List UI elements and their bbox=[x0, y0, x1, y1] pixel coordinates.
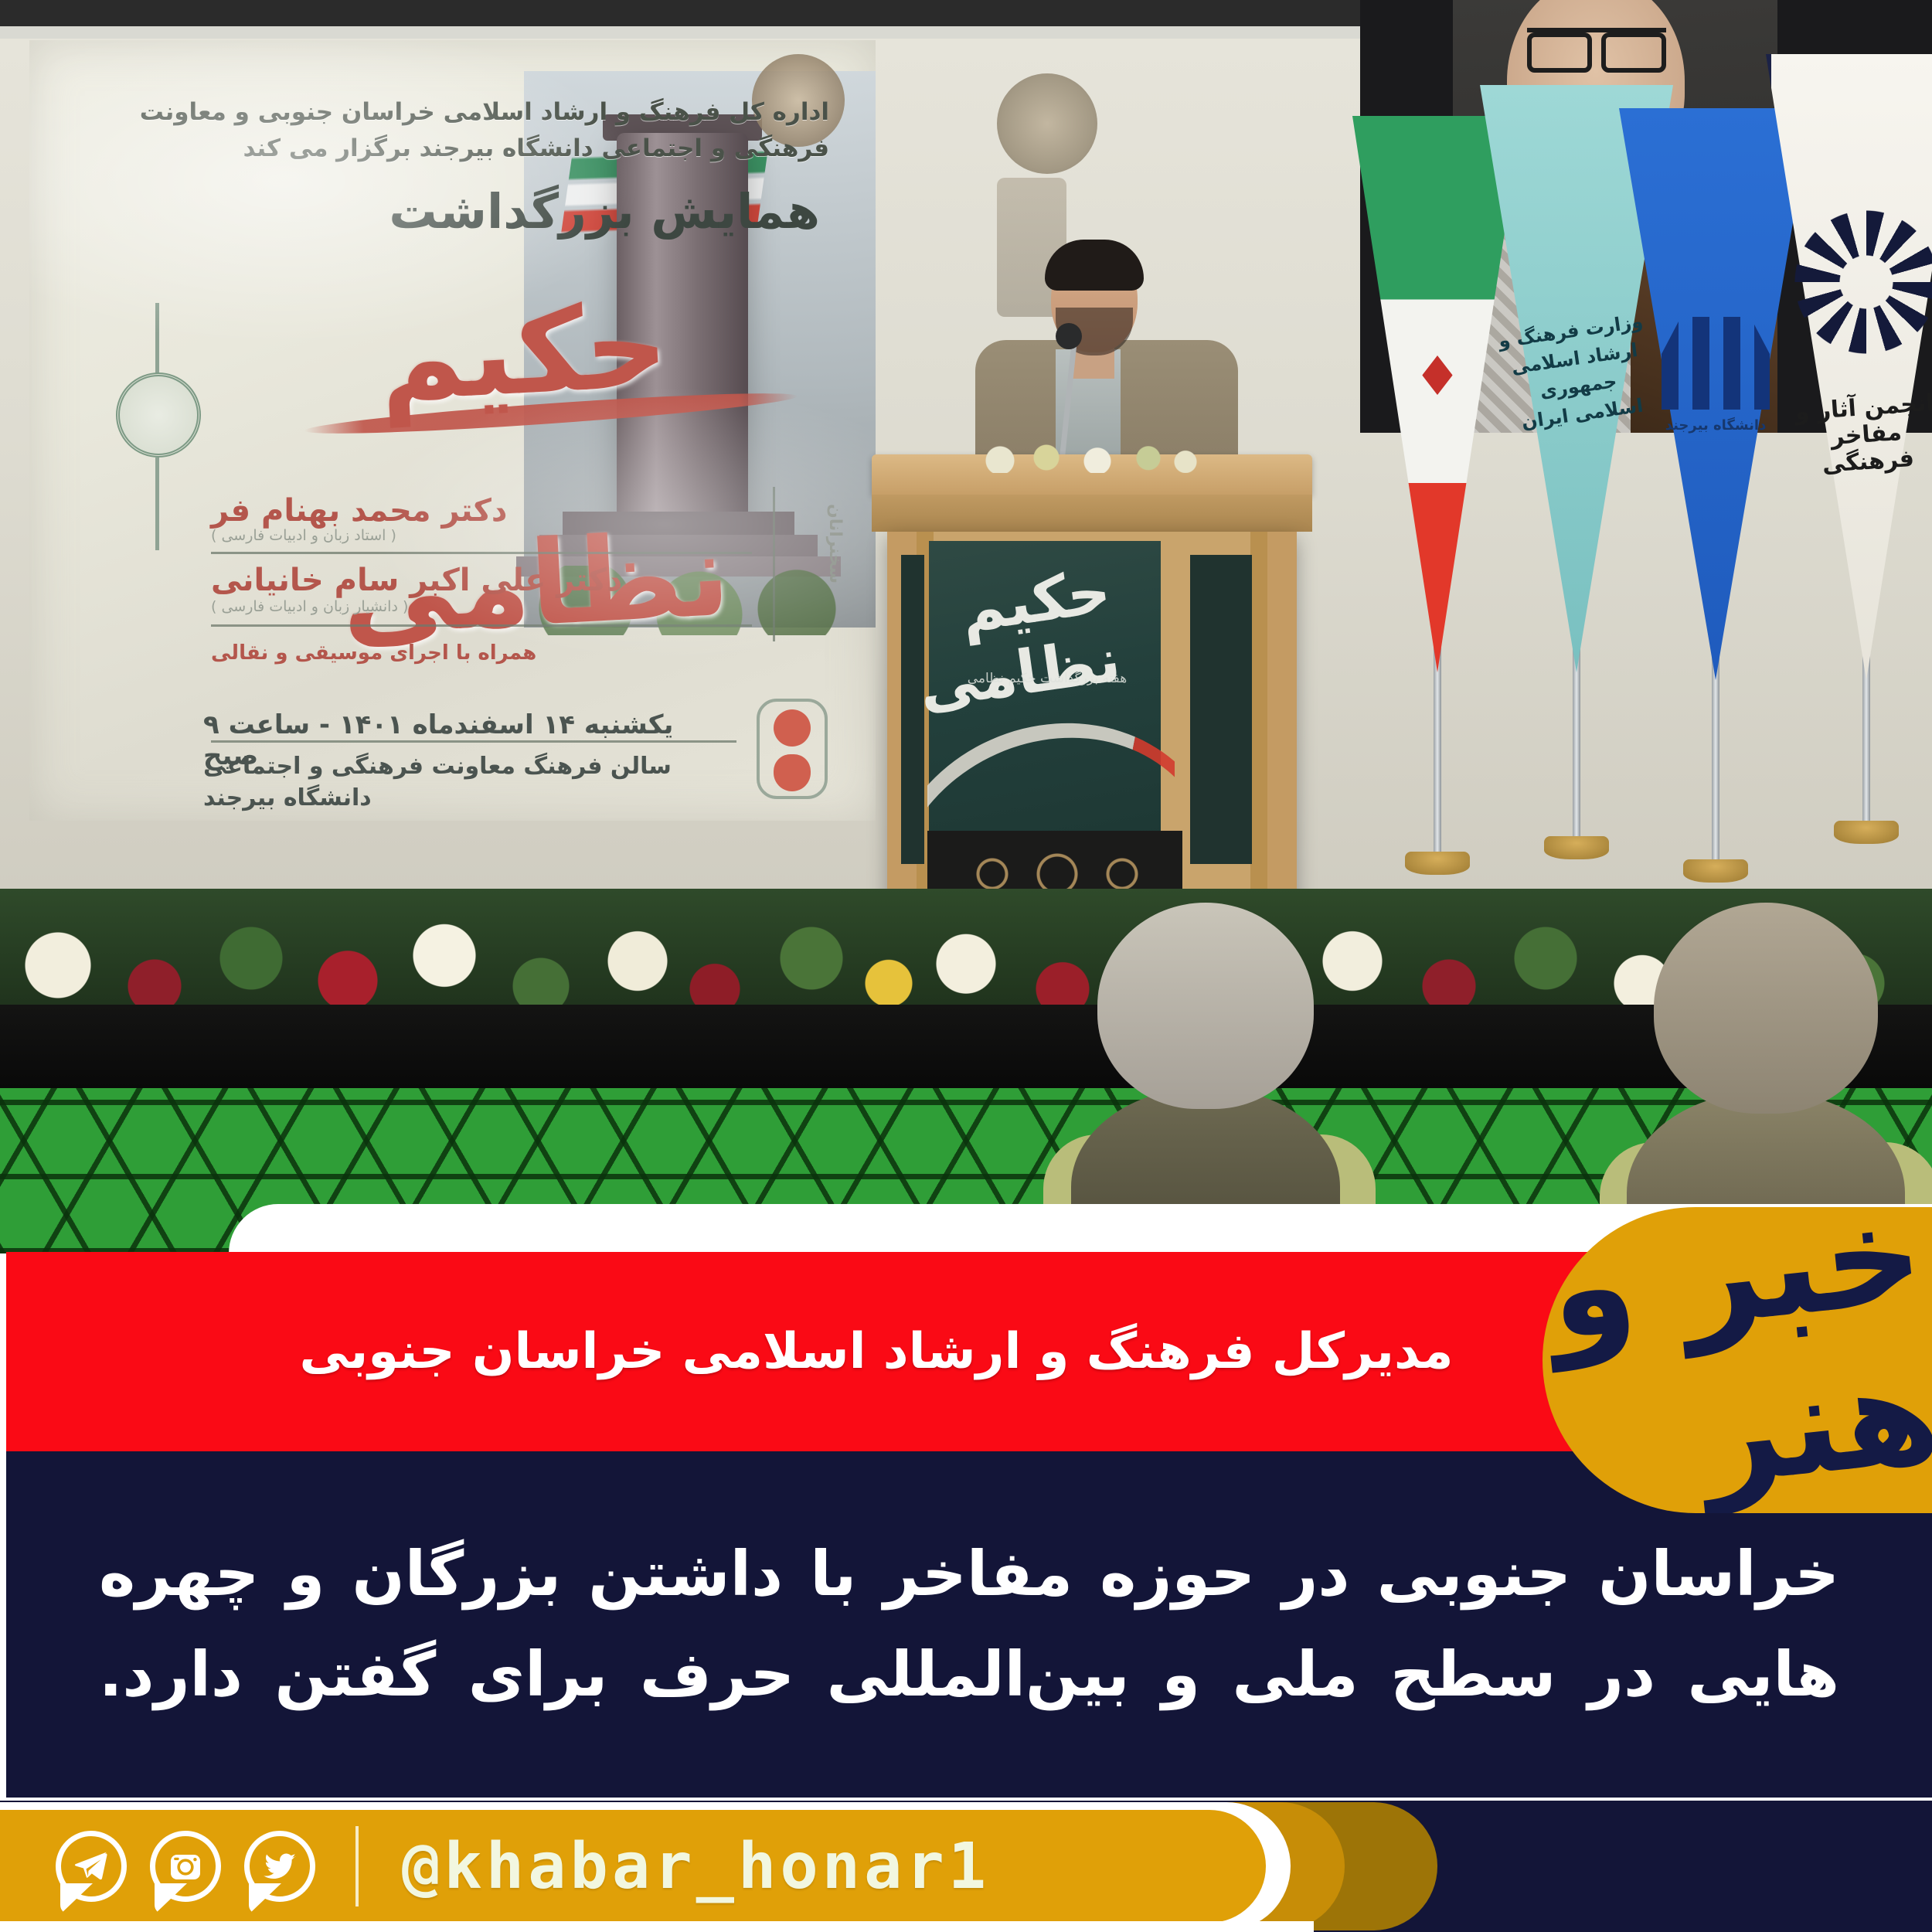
podium-subtitle: هفته بزرگداشت حکیم نظامی bbox=[943, 671, 1151, 686]
flag-cloth bbox=[1766, 54, 1932, 680]
event-photo: اداره کل فرهنگ و ارشاد اسلامی خراسان جنو… bbox=[0, 0, 1932, 1253]
flag-base bbox=[1405, 852, 1470, 875]
university-seal-icon bbox=[116, 372, 201, 457]
flag-blue-label: دانشگاه بیرجند bbox=[1650, 417, 1781, 434]
instagram-icon[interactable] bbox=[150, 1831, 221, 1902]
news-card: اداره کل فرهنگ و ارشاد اسلامی خراسان جنو… bbox=[0, 0, 1932, 1932]
rosette-icon bbox=[1793, 209, 1932, 355]
speaker-hair bbox=[1045, 240, 1144, 291]
telegram-icon[interactable] bbox=[56, 1831, 127, 1902]
audience-head bbox=[1097, 903, 1314, 1109]
footer-content: @khabar_honar1 bbox=[0, 1801, 1314, 1932]
poster-venue: سالن فرهنگ معاونت فرهنگی و اجتماعی دانشگ… bbox=[203, 751, 736, 814]
glasses-icon bbox=[1527, 28, 1666, 62]
poster-note: همراه با اجرای موسیقی و نقالی bbox=[211, 641, 783, 665]
location-pin-icon bbox=[774, 754, 811, 791]
poster-speaker-2-subtitle: ( دانشیار زبان و ادبیات فارسی ) bbox=[211, 598, 752, 615]
body-text: خراسان جنوبی در حوزه مفاخر با داشتن بزرگ… bbox=[65, 1524, 1873, 1724]
poster-organizer: اداره کل فرهنگ و ارشاد اسلامی خراسان جنو… bbox=[134, 94, 829, 167]
poster-speaker-2: دکتر علی اکبر سام خانیانی bbox=[211, 563, 752, 598]
podium-rail bbox=[872, 495, 1312, 532]
footer-divider bbox=[355, 1826, 359, 1906]
audience-member-1 bbox=[1097, 903, 1314, 1253]
flag-white-label: انجمن آثار و مفاخر فرهنگی bbox=[1783, 389, 1932, 481]
clock-icon bbox=[774, 709, 811, 747]
flag-base bbox=[1544, 836, 1609, 859]
headline-text: مدیرکل فرهنگ و ارشاد اسلامی خراسان جنوبی bbox=[299, 1323, 1638, 1380]
poster-ornament-stem-bottom bbox=[155, 457, 159, 550]
brand-logo-text: خبر و هنر bbox=[1543, 1207, 1932, 1513]
ceiling-strip-light bbox=[0, 26, 1360, 39]
poster-event-title: حکیم نظامی bbox=[240, 223, 808, 506]
social-handle[interactable]: @khabar_honar1 bbox=[402, 1830, 990, 1903]
iran-emblem-icon: ♦ bbox=[1409, 348, 1466, 405]
poster-ornament-stem-top bbox=[155, 303, 159, 376]
flower-planter-box bbox=[0, 1005, 1932, 1088]
wall-seal-icon bbox=[997, 73, 1097, 174]
poster-time-place-pill bbox=[757, 699, 828, 799]
poster-speaker-1-subtitle: ( استاد زبان و ادبیات فارسی ) bbox=[211, 527, 752, 544]
poster-divider-1 bbox=[211, 552, 752, 554]
podium-panel-right bbox=[1190, 555, 1252, 864]
flag-base bbox=[1834, 821, 1899, 844]
podium-flowers bbox=[972, 442, 1204, 473]
audience-member-2 bbox=[1654, 903, 1878, 1253]
flag-base bbox=[1683, 859, 1748, 883]
poster-speaker-1: دکتر محمد بهنام فر bbox=[211, 493, 752, 529]
audience-head bbox=[1654, 903, 1878, 1114]
poster-divider-3 bbox=[211, 740, 736, 743]
ceiling-strip bbox=[0, 0, 1360, 26]
poster-speakers-label: سخنرانان bbox=[767, 504, 845, 583]
university-logo-icon bbox=[1662, 317, 1770, 410]
podium-calligraphy: حکیم نظامی bbox=[991, 556, 1120, 672]
podium-panel-left bbox=[901, 555, 924, 864]
microphone-icon bbox=[1056, 323, 1082, 349]
event-poster: اداره کل فرهنگ و ارشاد اسلامی خراسان جنو… bbox=[29, 40, 876, 821]
footer-baseline bbox=[0, 1921, 1314, 1932]
poster-divider-2 bbox=[211, 624, 752, 627]
brand-logo-badge[interactable]: خبر و هنر bbox=[1543, 1207, 1932, 1513]
twitter-icon[interactable] bbox=[244, 1831, 315, 1902]
flag-cultural-association: انجمن آثار و مفاخر فرهنگی bbox=[1766, 54, 1932, 912]
